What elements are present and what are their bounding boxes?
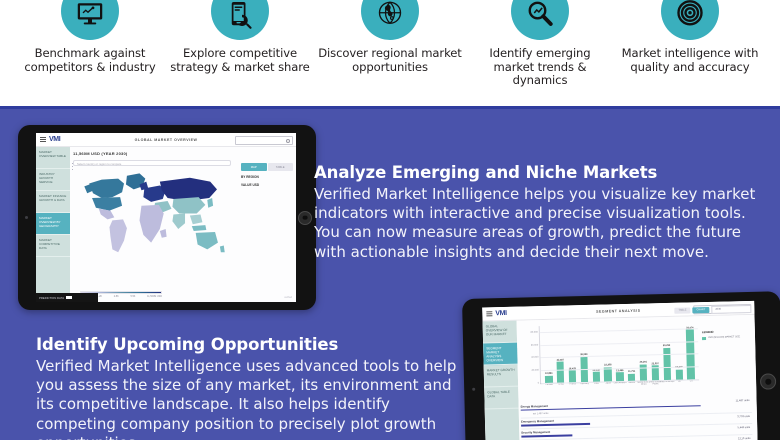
legend-heading: LEGEND xyxy=(702,329,750,334)
feature-item-intelligence[interactable]: Market intelligence with quality and acc… xyxy=(618,0,762,74)
footer-brand-text: PREDICTION DATA xyxy=(39,296,64,300)
sidebar-item-competitive-data[interactable]: MARKET COMPETITIVE DATA xyxy=(36,235,70,257)
bar[interactable] xyxy=(663,348,671,380)
tab-table[interactable]: TABLE xyxy=(674,307,690,313)
panel-tabs: MAP TABLE xyxy=(241,163,293,171)
sidebar-item-segment-analysis[interactable]: SEGMENT MARKET ANALYSIS OVERVIEW xyxy=(483,343,518,366)
region-filter-input[interactable]: Select country or region to compare xyxy=(73,160,231,166)
tablet-device-chart: VMI SEGMENT ANALYSIS GLOBAL OVERVIEW OF … xyxy=(462,291,780,440)
feature-item-identify[interactable]: Identify emerging market trends & dynami… xyxy=(468,0,612,88)
sidebar-item-table-data[interactable]: GLOBAL TABLE DATA xyxy=(484,387,519,410)
globe-icon xyxy=(361,0,419,40)
feature-band: Benchmark against competitors & industry… xyxy=(0,0,780,106)
segment-progress-bar xyxy=(521,435,572,438)
bar[interactable] xyxy=(604,367,612,381)
chart-dashboard: VMI SEGMENT ANALYSIS GLOBAL OVERVIEW OF … xyxy=(482,301,758,440)
segment-value: 11,487 units xyxy=(736,399,750,402)
map-side-panel: MAP TABLE BY REGION VALUE USD xyxy=(241,163,293,187)
dashboard-header: VMI GLOBAL MARKET OVERVIEW xyxy=(36,133,296,147)
legend-tick: 2.8K xyxy=(114,295,119,298)
map-zoom-controls[interactable] xyxy=(72,163,73,172)
body-identify: Verified Market Intelligence uses advanc… xyxy=(36,357,468,440)
segment-progress-bar xyxy=(521,423,590,426)
sidebar-item-industry-growth[interactable]: INDUSTRY GROWTH SERVICE xyxy=(36,169,70,191)
feature-item-explore[interactable]: Explore competitive strategy & market sh… xyxy=(168,0,312,74)
feature-label: Identify emerging market trends & dynami… xyxy=(468,47,612,88)
bar[interactable] xyxy=(652,366,660,381)
dashboard-footer-brand: PREDICTION DATA xyxy=(36,293,98,302)
year-select[interactable]: 2030 xyxy=(711,305,751,314)
bar[interactable] xyxy=(569,371,577,383)
feature-label: Benchmark against competitors & industry xyxy=(18,47,162,74)
y-axis-tick-label: 80,000 xyxy=(530,331,537,334)
camera-icon xyxy=(25,216,28,219)
legend-swatch-icon xyxy=(702,337,706,340)
magnifier-icon xyxy=(511,0,569,40)
dashboard-sidebar: MARKET OVERVIEW TABLE INDUSTRY GROWTH SE… xyxy=(36,147,70,302)
heading-identify: Identify Upcoming Opportunities xyxy=(36,335,468,354)
tab-map[interactable]: MAP xyxy=(241,163,267,171)
sidebar-item-global-overview[interactable]: GLOBAL OVERVIEW OF OUR MARKET xyxy=(483,321,518,344)
tab-table[interactable]: TABLE xyxy=(268,163,294,171)
legend-entry: USD (MILLION) MARKET SIZE xyxy=(702,336,750,340)
dashboard-credit: verified xyxy=(284,296,292,299)
search-input[interactable] xyxy=(235,136,293,145)
search-icon xyxy=(286,139,290,143)
bar-value-label: 25,291 xyxy=(640,361,647,364)
y-axis-tick-label: 60,000 xyxy=(531,343,538,346)
map-panel-main: 11,560M USD (YEAR 2030) Select country o… xyxy=(70,147,296,302)
home-button[interactable] xyxy=(298,211,312,225)
bar-column[interactable]: 78,474US xyxy=(684,322,697,379)
kpi-value: 11,560M USD (YEAR 2030) xyxy=(73,151,293,156)
footer-chip-icon xyxy=(66,296,72,299)
copy-block-analyze: Analyze Emerging and Niche Markets Verif… xyxy=(314,163,772,262)
sidebar-item-finance-growth[interactable]: MARKET FINANCE GROWTH & DATA xyxy=(36,191,70,213)
sidebar-item-overview-table[interactable]: MARKET OVERVIEW TABLE xyxy=(36,147,70,169)
bar[interactable] xyxy=(557,362,565,383)
segment-list: Energy Management11,487 unitsest 1,487 u… xyxy=(521,397,755,440)
map-dashboard: VMI GLOBAL MARKET OVERVIEW MARKET OVERVI… xyxy=(36,133,296,302)
heading-analyze: Analyze Emerging and Niche Markets xyxy=(314,163,772,182)
tablet-screen-map: VMI GLOBAL MARKET OVERVIEW MARKET OVERVI… xyxy=(36,133,296,302)
chart-plot-area: 10,864Canada32,487China18,425France39,99… xyxy=(539,322,699,384)
desktop-monitor-icon xyxy=(61,0,119,40)
home-button[interactable] xyxy=(760,373,776,389)
bar-value-label: 10,864 xyxy=(545,372,552,375)
body-analyze: Verified Market Intelligence helps you v… xyxy=(314,185,772,262)
legend-tick: 11,560M USD xyxy=(147,295,162,298)
tablet-device-map: VMI GLOBAL MARKET OVERVIEW MARKET OVERVI… xyxy=(18,125,316,310)
segment-value: 3,778 units xyxy=(737,415,750,418)
world-map-chart[interactable] xyxy=(80,169,230,261)
legend-entry-label: USD (MILLION) MARKET SIZE xyxy=(708,336,740,340)
y-axis-tick-label: 20,000 xyxy=(531,368,538,371)
copy-block-identify: Identify Upcoming Opportunities Verified… xyxy=(36,335,468,440)
tab-chart[interactable]: CHART xyxy=(692,307,709,313)
feature-item-benchmark[interactable]: Benchmark against competitors & industry xyxy=(18,0,162,74)
tablet-screen-chart: VMI SEGMENT ANALYSIS GLOBAL OVERVIEW OF … xyxy=(482,301,758,440)
purple-section: VMI GLOBAL MARKET OVERVIEW MARKET OVERVI… xyxy=(0,109,780,440)
target-icon xyxy=(661,0,719,40)
panel-row-region: BY REGION xyxy=(241,175,293,179)
dashboard-sidebar: GLOBAL OVERVIEW OF OUR MARKET SEGMENT MA… xyxy=(483,321,521,440)
dashboard-body: MARKET OVERVIEW TABLE INDUSTRY GROWTH SE… xyxy=(36,147,296,302)
feature-label: Market intelligence with quality and acc… xyxy=(618,47,762,74)
sidebar-item-growth-results[interactable]: MARKET GROWTH RESULTS xyxy=(484,365,519,388)
mobile-chart-icon xyxy=(211,0,269,40)
bar[interactable] xyxy=(686,330,695,380)
segment-bar-chart[interactable]: 10,864Canada32,487China18,425France39,99… xyxy=(519,317,754,397)
y-axis-tick-label: 40,000 xyxy=(531,356,538,359)
y-axis-tick-label: 0 xyxy=(538,381,539,384)
segment-value: 5,449 units xyxy=(737,426,750,429)
panel-row-value: VALUE USD xyxy=(241,183,293,187)
bar-value-label: 13,466 xyxy=(616,369,623,372)
feature-label: Discover regional market opportunities xyxy=(318,47,462,74)
legend-tick: 5.5K xyxy=(130,295,135,298)
camera-icon xyxy=(472,387,475,390)
feature-item-discover[interactable]: Discover regional market opportunities xyxy=(318,0,462,74)
chart-legend: LEGEND USD (MILLION) MARKET SIZE xyxy=(702,329,750,340)
sidebar-item-geography[interactable]: MARKET OVERVIEW BY GEOGRAPHY xyxy=(36,213,70,235)
x-axis-tick-label: US xyxy=(682,380,700,383)
feature-label: Explore competitive strategy & market sh… xyxy=(168,47,312,74)
